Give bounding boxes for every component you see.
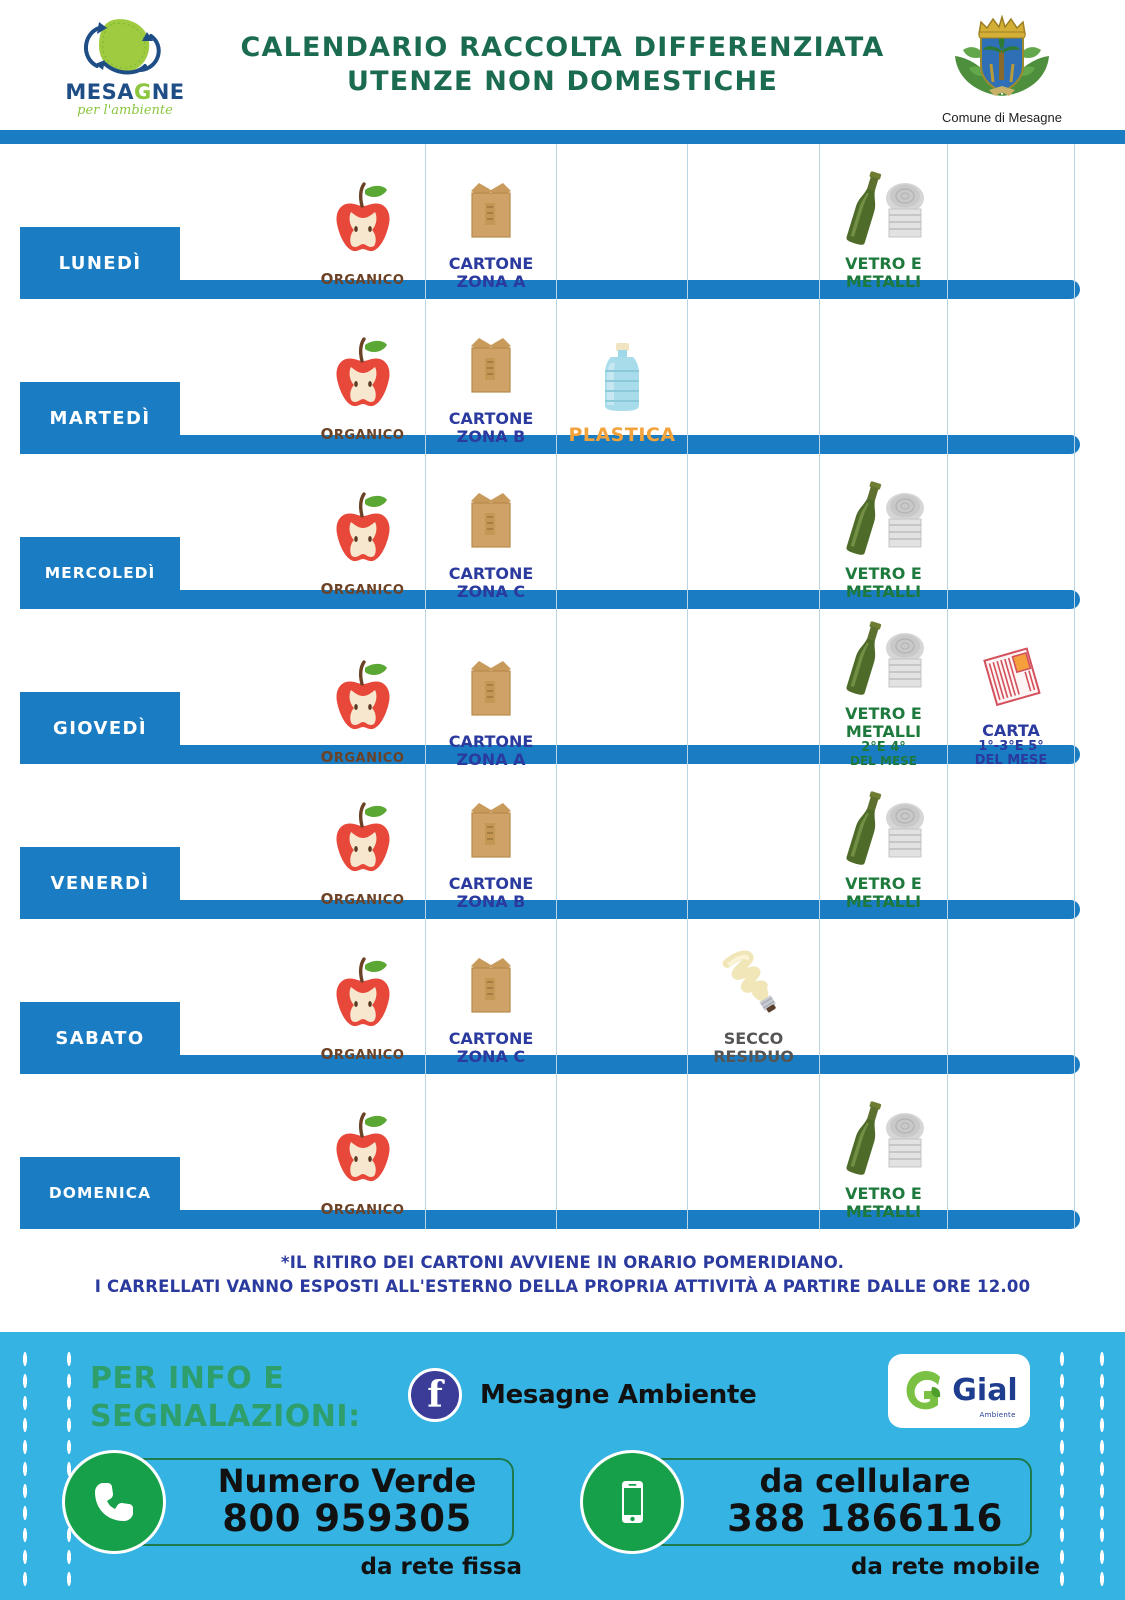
label-sub2: 2°E 4° <box>845 741 922 756</box>
cell-label-cartone: CARTONEZONA C <box>449 565 534 601</box>
cell-label-cartone: CARTONEZONA B <box>449 410 534 446</box>
label-sub: ZONA A <box>449 273 534 291</box>
telephone-handset-icon[interactable] <box>62 1450 166 1554</box>
apple-core-icon-wrap <box>324 1100 402 1192</box>
calendar-cell-organico: Organico <box>300 1074 426 1229</box>
label-sub: RESIDUO <box>713 1048 794 1066</box>
cell-label-vetro: VETRO EMETALLI <box>845 1185 922 1221</box>
cell-label-vetro: VETRO EMETALLI <box>845 875 922 911</box>
footnote: *IL RITIRO DEI CARTONI AVVIENE IN ORARIO… <box>0 1229 1125 1315</box>
cardboard-box-icon <box>452 940 530 1026</box>
plastic-jug-icon <box>583 335 661 421</box>
calendar-row: Organico VETRO EMETALLIDOMENICA <box>0 1074 1125 1229</box>
row-grid: Organico CARTONEZONA A <box>20 144 1125 299</box>
dot-decoration-left-inner <box>66 1348 72 1590</box>
apple-core-icon <box>324 654 402 740</box>
apple-core-icon <box>324 951 402 1037</box>
glass-bottle-can-icon-wrap <box>829 1089 939 1181</box>
calendar-row: Organico CARTONEZONA C <box>0 454 1125 609</box>
cell-label-vetro: VETRO EMETALLI <box>845 255 922 291</box>
mobile-glyph <box>603 1473 661 1531</box>
page-title: CALENDARIO RACCOLTA DIFFERENZIATA UTENZE… <box>241 31 885 99</box>
glass-bottle-can-icon <box>829 475 939 561</box>
calendar-row: Organico CARTONEZONA A <box>0 144 1125 299</box>
newspaper-icon-wrap <box>972 626 1050 718</box>
light-bulb-icon-wrap <box>715 934 793 1026</box>
phone-mobile-network: da rete mobile <box>730 1554 1040 1580</box>
row-grid: Organico CARTONEZONA C SECCORE <box>20 919 1125 1074</box>
glass-bottle-can-icon <box>829 785 939 871</box>
calendar-cell-plastica: PLASTICA <box>557 299 688 454</box>
cardboard-box-icon-wrap <box>452 779 530 871</box>
collection-calendar: Organico CARTONEZONA A <box>0 144 1125 1229</box>
calendar-cell <box>948 1074 1075 1229</box>
footnote-line1: *IL RITIRO DEI CARTONI AVVIENE IN ORARIO… <box>281 1253 844 1272</box>
apple-core-icon <box>324 331 402 417</box>
calendar-cell <box>557 764 688 919</box>
cardboard-box-icon <box>452 643 530 729</box>
plastic-jug-icon-wrap <box>583 329 661 421</box>
cell-label-cartone: CARTONEZONA B <box>449 875 534 911</box>
cell-label-organico: Organico <box>321 1041 405 1066</box>
label-main: VETRO E <box>845 1184 922 1203</box>
calendar-cell-vetro: VETRO EMETALLI <box>820 1074 948 1229</box>
calendar-cell <box>1075 454 1125 609</box>
label-sub: ZONA C <box>449 1048 534 1066</box>
day-name: GIOVEDÌ <box>53 718 147 739</box>
label-main: CARTA <box>982 721 1040 740</box>
label-sub: METALLI <box>845 1203 922 1221</box>
row-grid: Organico CARTONEZONA C <box>20 454 1125 609</box>
cardboard-box-icon-wrap <box>452 934 530 1026</box>
label-sub: METALLI <box>845 273 922 291</box>
cell-label-organico: Organico <box>321 266 405 291</box>
row-grid: Organico CARTONEZONA A <box>20 609 1125 764</box>
label-sub: METALLI <box>845 723 922 741</box>
calendar-cell-organico: Organico <box>300 144 426 299</box>
label-sub: ZONA A <box>449 751 534 769</box>
calendar-cell-cartone: CARTONEZONA B <box>426 299 557 454</box>
cardboard-box-icon-wrap <box>452 314 530 406</box>
glass-bottle-can-icon-wrap <box>829 609 939 701</box>
label-main: Organico <box>321 745 405 767</box>
mesagne-wordmark: MESAGNE <box>55 80 195 104</box>
label-main: Organico <box>321 887 405 909</box>
calendar-cell <box>557 144 688 299</box>
calendar-cell <box>820 299 948 454</box>
gial-subtitle: Ambiente <box>980 1412 1016 1419</box>
calendar-cell-organico: Organico <box>300 609 426 777</box>
label-sub: ZONA B <box>449 893 534 911</box>
calendar-cell-carta: CARTA1°-3°E 5°DEL MESE <box>948 609 1075 777</box>
cardboard-box-icon-wrap <box>452 159 530 251</box>
calendar-cell <box>688 764 820 919</box>
calendar-cell-cartone: CARTONEZONA C <box>426 919 557 1074</box>
apple-core-icon-wrap <box>324 790 402 882</box>
dot-decoration-left-outer <box>22 1348 28 1590</box>
newspaper-icon <box>972 632 1050 718</box>
phone-fixed-number: 800 959305 <box>182 1499 512 1539</box>
apple-core-icon-wrap <box>324 480 402 572</box>
label-sub3: DEL MESE <box>845 755 922 768</box>
info-heading-line1: PER INFO E <box>90 1361 284 1396</box>
mesagne-ambiente-logo: MESAGNE per l'ambiente <box>55 14 195 124</box>
label-main: CARTONE <box>449 254 534 273</box>
page-title-line1: CALENDARIO RACCOLTA DIFFERENZIATA <box>241 32 885 63</box>
row-grid: Organico VETRO EMETALLI <box>20 1074 1125 1229</box>
calendar-cell <box>948 919 1075 1074</box>
day-label-venerdì: VENERDÌ <box>20 847 180 919</box>
calendar-cell <box>557 609 688 777</box>
calendar-cell <box>688 144 820 299</box>
label-main: CARTONE <box>449 732 534 751</box>
label-sub: METALLI <box>845 583 922 601</box>
mesagne-leaf-recycle-icon <box>55 14 195 82</box>
glass-bottle-can-icon <box>829 1095 939 1181</box>
calendar-cell-organico: Organico <box>300 764 426 919</box>
row-grid: Organico CARTONEZONA B PLASTICA <box>20 299 1125 454</box>
phone-fixed-network: da rete fissa <box>212 1554 522 1580</box>
cell-label-carta: CARTA1°-3°E 5°DEL MESE <box>975 722 1048 769</box>
calendar-cell-cartone: CARTONEZONA A <box>426 144 557 299</box>
day-name: LUNEDÌ <box>59 253 142 274</box>
header-divider-bar <box>0 130 1125 144</box>
cell-label-cartone: CARTONEZONA C <box>449 1030 534 1066</box>
day-name: DOMENICA <box>49 1184 151 1202</box>
cell-label-organico: Organico <box>321 576 405 601</box>
label-sub: ZONA C <box>449 583 534 601</box>
apple-core-icon <box>324 176 402 262</box>
apple-core-icon-wrap <box>324 648 402 740</box>
calendar-cell <box>1075 764 1125 919</box>
cardboard-box-icon-wrap <box>452 637 530 729</box>
day-name: SABATO <box>55 1028 144 1049</box>
label-main: VETRO E <box>845 564 922 583</box>
label-sub: 1°-3°E 5° <box>975 740 1048 755</box>
day-label-domenica: DOMENICA <box>20 1157 180 1229</box>
apple-core-icon-wrap <box>324 945 402 1037</box>
calendar-cell-cartone: CARTONEZONA C <box>426 454 557 609</box>
apple-core-icon-wrap <box>324 170 402 262</box>
phone-fixed-title: Numero Verde <box>182 1464 512 1499</box>
cardboard-box-icon-wrap <box>452 469 530 561</box>
cell-label-vetro: VETRO EMETALLI <box>845 565 922 601</box>
calendar-cell <box>948 454 1075 609</box>
label-main: PLASTICA <box>568 424 675 446</box>
label-sub2: DEL MESE <box>975 754 1048 769</box>
day-label-sabato: SABATO <box>20 1002 180 1074</box>
cell-label-organico: Organico <box>321 744 405 769</box>
calendar-cell <box>557 454 688 609</box>
phone-fixed-text: Numero Verde 800 959305 <box>182 1464 512 1539</box>
label-main: Organico <box>321 577 405 599</box>
calendar-row: Organico CARTONEZONA C SECCORE <box>0 919 1125 1074</box>
day-label-giovedì: GIOVEDÌ <box>20 692 180 764</box>
calendar-cell-vetro: VETRO EMETALLI <box>820 144 948 299</box>
calendar-cell-vetro: VETRO EMETALLI2°E 4°DEL MESE <box>820 609 948 777</box>
day-name: VENERDÌ <box>51 873 150 894</box>
facebook-page-name: Mesagne Ambiente <box>480 1380 756 1410</box>
label-main: Organico <box>321 1197 405 1219</box>
mesagne-tagline: per l'ambiente <box>55 103 195 118</box>
info-heading-line2: SEGNALAZIONI: <box>90 1399 361 1434</box>
cell-label-organico: Organico <box>321 886 405 911</box>
contact-footer: PER INFO E SEGNALAZIONI: f Mesagne Ambie… <box>0 1332 1125 1600</box>
label-sub: METALLI <box>845 893 922 911</box>
calendar-cell <box>948 764 1075 919</box>
gial-wordmark: GialAmbiente <box>952 1376 1017 1406</box>
cell-label-vetro: VETRO EMETALLI2°E 4°DEL MESE <box>845 705 922 769</box>
day-label-lunedì: LUNEDÌ <box>20 227 180 299</box>
phone-mobile-number: 388 1866116 <box>700 1499 1030 1539</box>
calendar-row: Organico CARTONEZONA B <box>0 764 1125 919</box>
label-main: CARTONE <box>449 874 534 893</box>
cardboard-box-icon <box>452 785 530 871</box>
calendar-cell-organico: Organico <box>300 919 426 1074</box>
label-main: CARTONE <box>449 1029 534 1048</box>
label-main: Organico <box>321 1042 405 1064</box>
calendar-cell <box>820 919 948 1074</box>
calendar-cell <box>557 919 688 1074</box>
day-label-mercoledì: MERCOLEDÌ <box>20 537 180 609</box>
mobile-phone-icon[interactable] <box>580 1450 684 1554</box>
cardboard-box-icon <box>452 475 530 561</box>
phone-mobile-text: da cellulare 388 1866116 <box>700 1464 1030 1539</box>
label-main: Organico <box>321 267 405 289</box>
handset-glyph <box>85 1473 143 1531</box>
apple-core-icon <box>324 486 402 572</box>
calendar-cell-organico: Organico <box>300 454 426 609</box>
label-main: VETRO E <box>845 704 922 723</box>
cell-label-cartone: CARTONEZONA A <box>449 255 534 291</box>
calendar-cell <box>1075 1074 1125 1229</box>
glass-bottle-can-icon-wrap <box>829 469 939 561</box>
calendar-cell <box>688 1074 820 1229</box>
day-label-martedì: MARTEDÌ <box>20 382 180 454</box>
calendar-cell <box>557 1074 688 1229</box>
label-main: Organico <box>321 422 405 444</box>
calendar-cell-organico: Organico <box>300 299 426 454</box>
calendar-row: Organico CARTONEZONA A <box>0 609 1125 764</box>
calendar-row: Organico CARTONEZONA B PLASTICAMARTEDÌ <box>0 299 1125 454</box>
glass-bottle-can-icon-wrap <box>829 779 939 871</box>
day-name: MARTEDÌ <box>50 408 151 429</box>
comune-coat-of-arms: Comune di Mesagne <box>927 10 1077 125</box>
calendar-cell <box>688 609 820 777</box>
light-bulb-icon <box>715 940 793 1026</box>
row-grid: Organico CARTONEZONA B <box>20 764 1125 919</box>
label-main: CARTONE <box>449 564 534 583</box>
coat-of-arms-icon <box>927 10 1077 106</box>
page-title-line2: UTENZE NON DOMESTICHE <box>241 65 885 99</box>
label-main: CARTONE <box>449 409 534 428</box>
phone-mobile-title: da cellulare <box>700 1464 1030 1499</box>
cell-label-plastica: PLASTICA <box>568 425 675 446</box>
apple-core-icon <box>324 796 402 882</box>
cell-label-secco: SECCORESIDUO <box>713 1030 794 1066</box>
cell-label-cartone: CARTONEZONA A <box>449 733 534 769</box>
calendar-cell-secco: SECCORESIDUO <box>688 919 820 1074</box>
glass-bottle-can-icon-wrap <box>829 159 939 251</box>
apple-core-icon <box>324 1106 402 1192</box>
cardboard-box-icon <box>452 320 530 406</box>
label-main: SECCO <box>724 1029 784 1048</box>
calendar-cell-cartone: CARTONEZONA A <box>426 609 557 777</box>
label-main: VETRO E <box>845 254 922 273</box>
comune-label: Comune di Mesagne <box>927 110 1077 125</box>
glass-bottle-can-icon <box>829 615 939 701</box>
page-header: MESAGNE per l'ambiente CALENDARIO RACCOL… <box>0 0 1125 130</box>
calendar-cell <box>688 454 820 609</box>
calendar-cell <box>1075 919 1125 1074</box>
calendar-cell-vetro: VETRO EMETALLI <box>820 454 948 609</box>
calendar-cell-vetro: VETRO EMETALLI <box>820 764 948 919</box>
facebook-link[interactable]: f Mesagne Ambiente <box>408 1368 756 1422</box>
gial-leaf-g-icon <box>900 1367 946 1415</box>
day-name: MERCOLEDÌ <box>45 564 156 582</box>
facebook-glyph: f <box>427 1377 443 1413</box>
glass-bottle-can-icon <box>829 165 939 251</box>
cardboard-box-icon <box>452 165 530 251</box>
dot-decoration-right-inner <box>1059 1348 1065 1590</box>
calendar-cell <box>1075 609 1125 777</box>
gial-ambiente-logo: GialAmbiente <box>888 1354 1030 1428</box>
cell-label-organico: Organico <box>321 421 405 446</box>
calendar-cell <box>426 1074 557 1229</box>
facebook-icon[interactable]: f <box>408 1368 462 1422</box>
calendar-cell <box>688 299 820 454</box>
info-heading: PER INFO E SEGNALAZIONI: <box>90 1360 361 1435</box>
calendar-cell-cartone: CARTONEZONA B <box>426 764 557 919</box>
apple-core-icon-wrap <box>324 325 402 417</box>
label-sub: ZONA B <box>449 428 534 446</box>
calendar-cell <box>1075 299 1125 454</box>
dot-decoration-right-outer <box>1099 1348 1105 1590</box>
cell-label-organico: Organico <box>321 1196 405 1221</box>
footnote-line2: I CARRELLATI VANNO ESPOSTI ALL'ESTERNO D… <box>95 1277 1031 1296</box>
label-main: VETRO E <box>845 874 922 893</box>
calendar-cell <box>948 144 1075 299</box>
calendar-cell <box>1075 144 1125 299</box>
calendar-cell <box>948 299 1075 454</box>
